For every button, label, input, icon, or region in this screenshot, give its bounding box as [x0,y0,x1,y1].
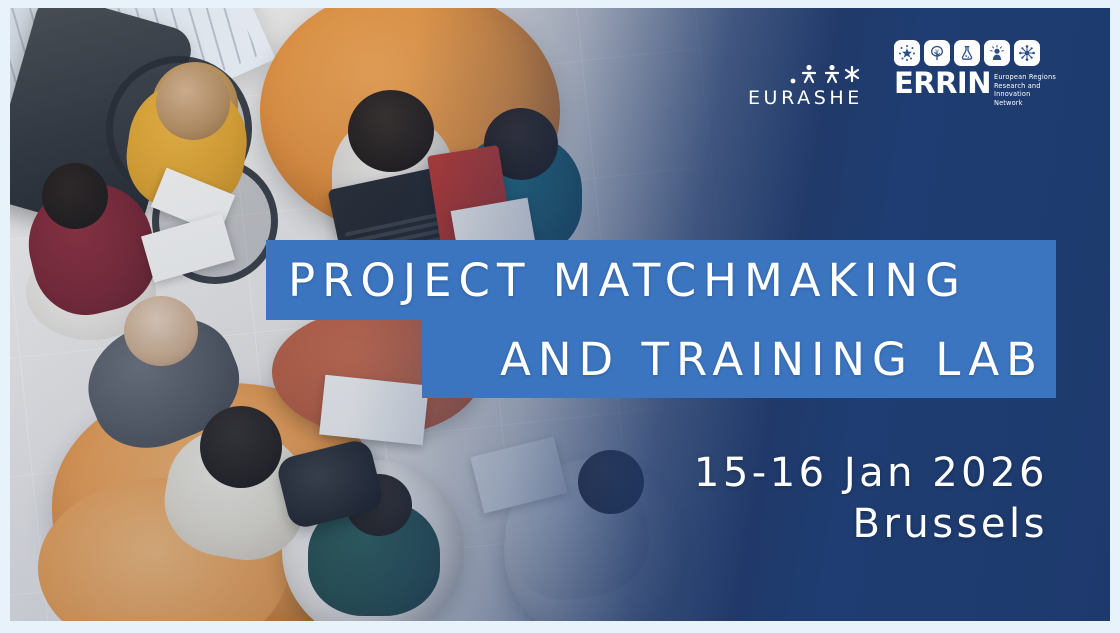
flask-icon [954,40,980,66]
atom-network-icon [1014,40,1040,66]
tree-icon: w [924,40,950,66]
title-line-1: PROJECT MATCHMAKING [288,258,967,303]
title-line-2: AND TRAINING LAB [500,337,1044,382]
errin-icon-strip: w [894,40,1060,66]
errin-wordmark: ERRIN [894,70,991,97]
eurashe-logo[interactable]: EURASHE [748,55,866,108]
star-network-icon [894,40,920,66]
event-banner: EURASHE [0,0,1120,633]
lightbulb-person-icon [984,40,1010,66]
errin-bottom-row: ERRIN European Regions Research and Inno… [894,70,1060,108]
title-band-line-2: AND TRAINING LAB [422,320,1056,398]
svg-text:w: w [935,49,939,54]
banner-stage: EURASHE [10,8,1110,621]
event-info: 15-16 Jan 2026 Brussels [694,448,1048,550]
event-location: Brussels [694,499,1048,550]
logo-row: EURASHE [748,40,1060,108]
errin-tagline: European Regions Research and Innovation… [994,70,1060,108]
eurashe-people-stars-icon [788,61,866,87]
eurashe-wordmark: EURASHE [748,89,866,108]
title-band-line-1: PROJECT MATCHMAKING [266,240,1056,320]
event-dates: 15-16 Jan 2026 [694,448,1048,499]
errin-logo[interactable]: w [894,40,1060,108]
